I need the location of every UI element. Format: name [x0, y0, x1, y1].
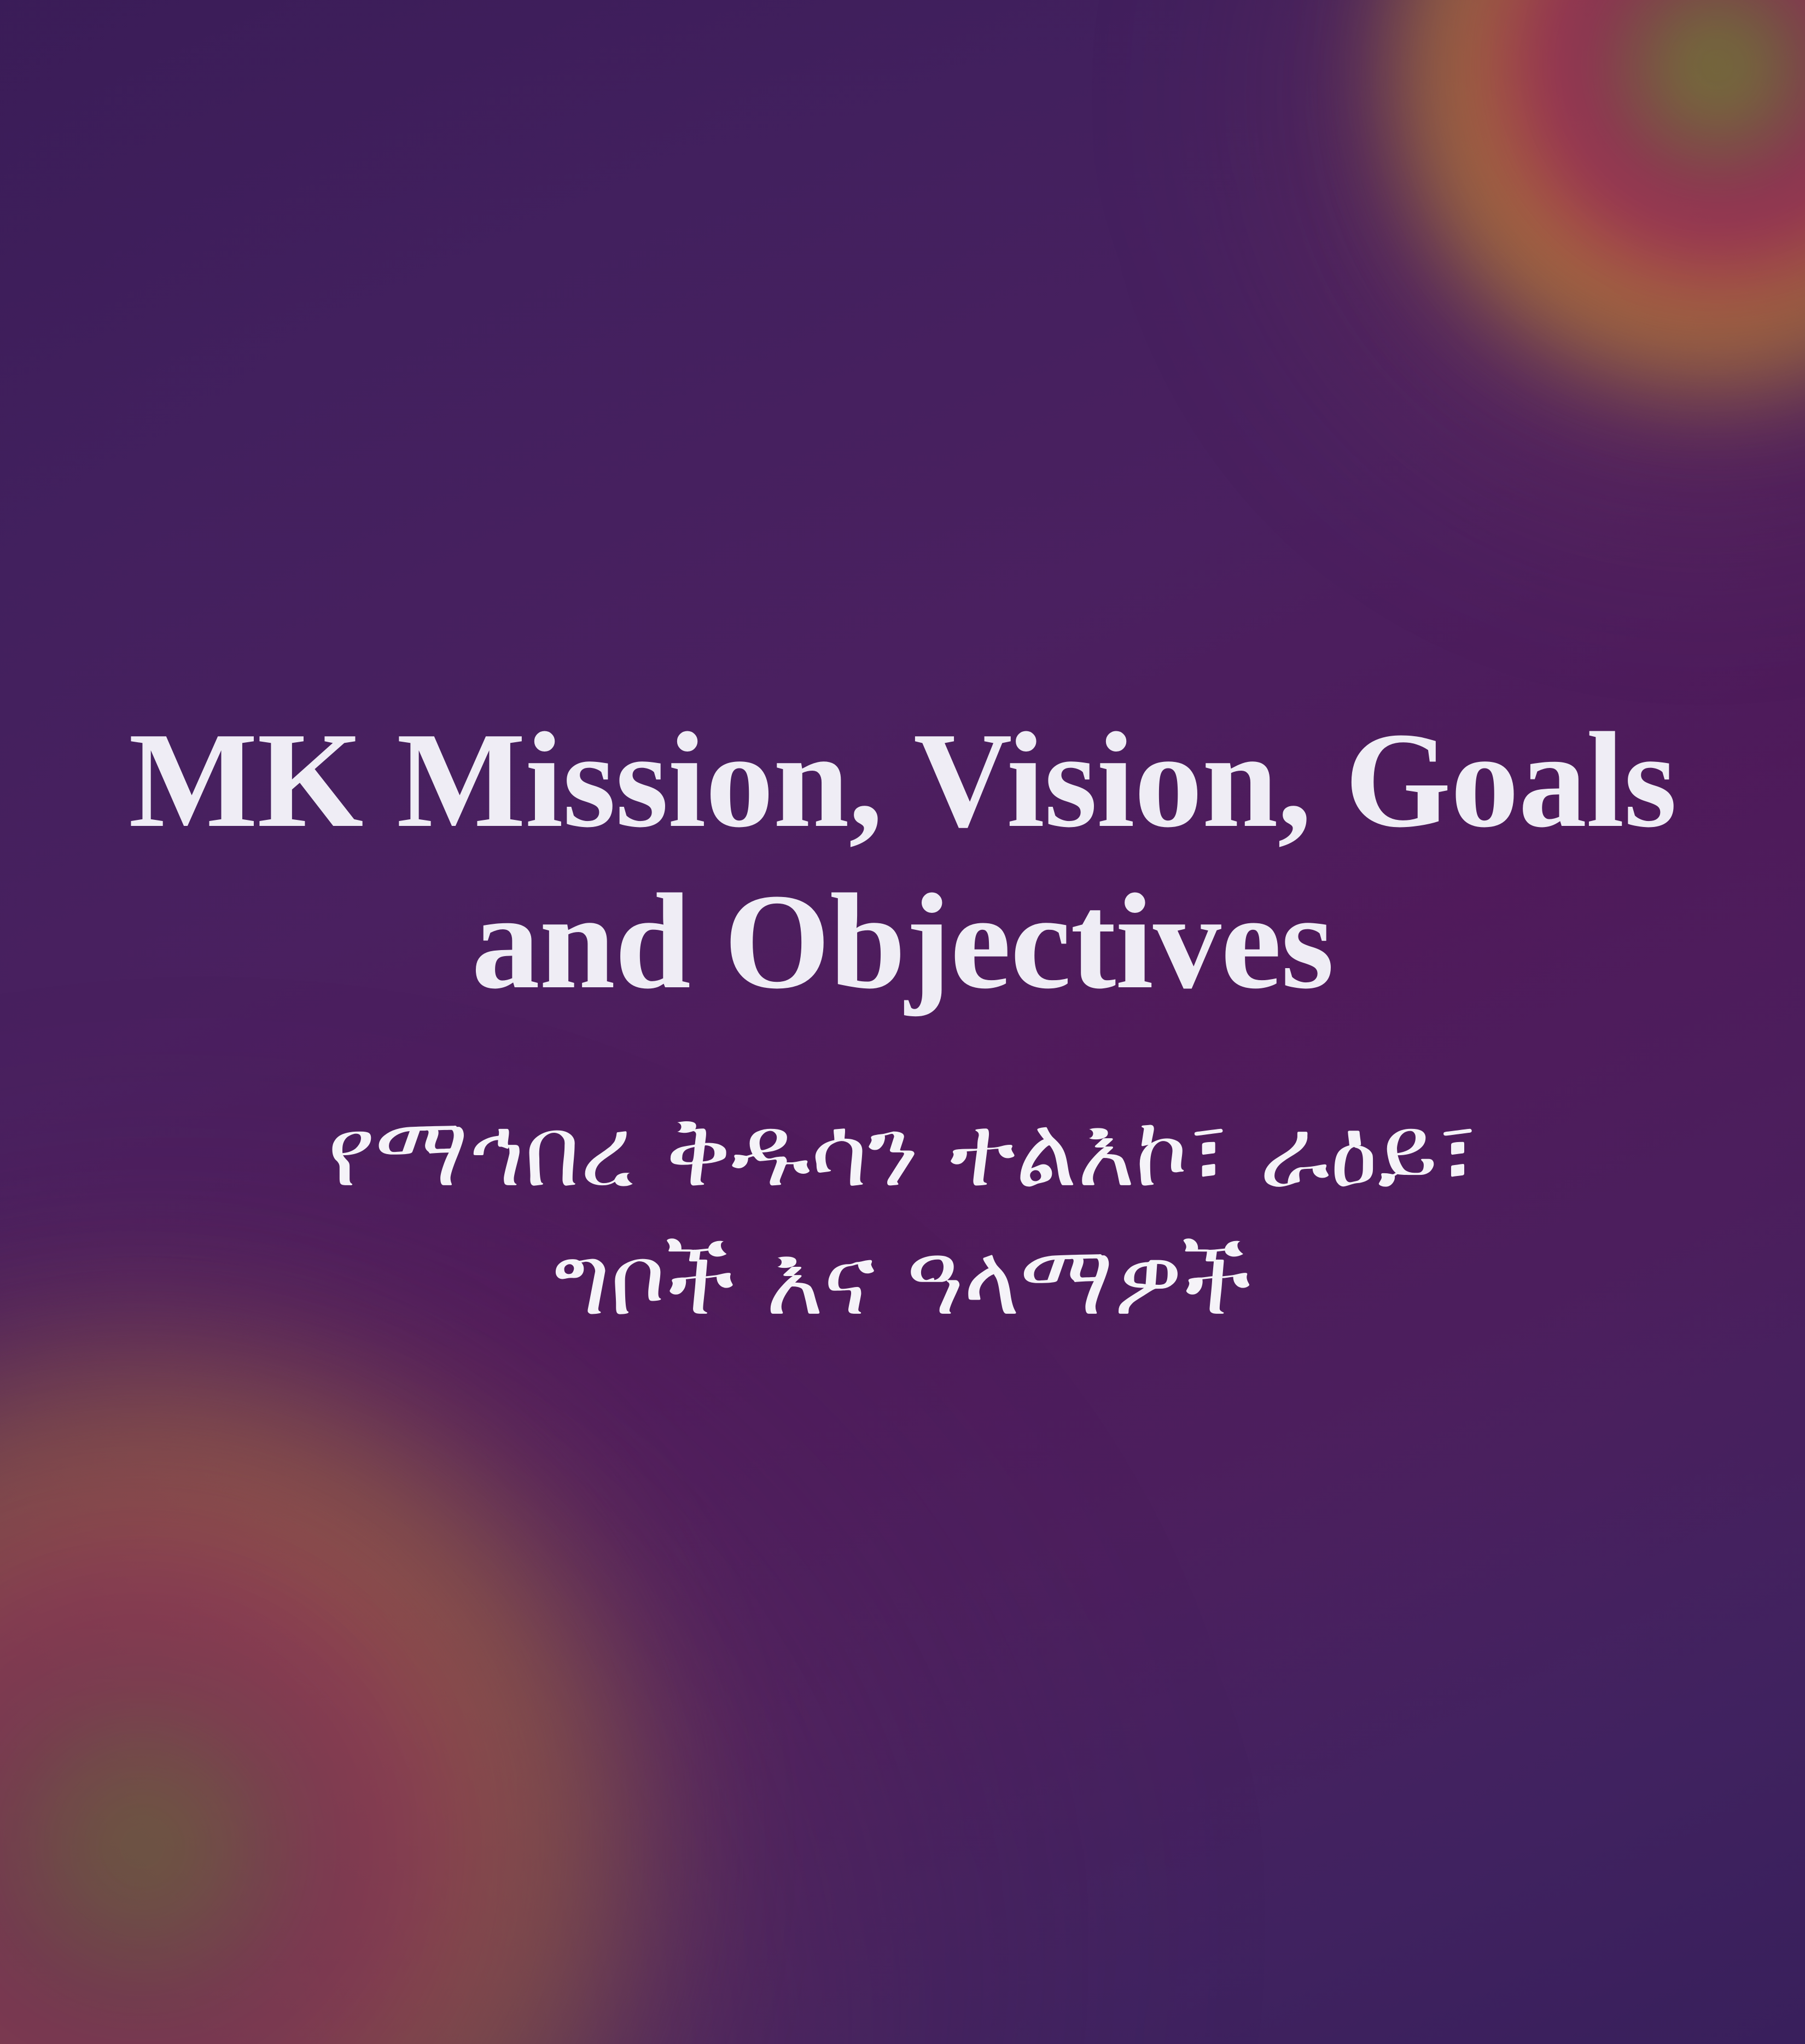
slide-content: MK Mission, Vision, Goals and Objectives… — [0, 0, 1805, 2044]
title-slide: MK Mission, Vision, Goals and Objectives… — [0, 0, 1805, 2044]
page-title-english: MK Mission, Vision, Goals and Objectives — [129, 700, 1676, 1022]
title-amharic-line-2: ግቦች እና ዓላማዎች — [328, 1216, 1478, 1345]
title-english-line-2: and Objectives — [471, 866, 1334, 1017]
title-english-line-1: MK Mission, Vision, Goals — [129, 704, 1676, 856]
title-amharic-line-1: የማኅበረ ቅዱሳን ተልእኮ፣ ራዕይ፣ — [328, 1088, 1478, 1216]
page-title-amharic: የማኅበረ ቅዱሳን ተልእኮ፣ ራዕይ፣ ግቦች እና ዓላማዎች — [328, 1088, 1478, 1345]
